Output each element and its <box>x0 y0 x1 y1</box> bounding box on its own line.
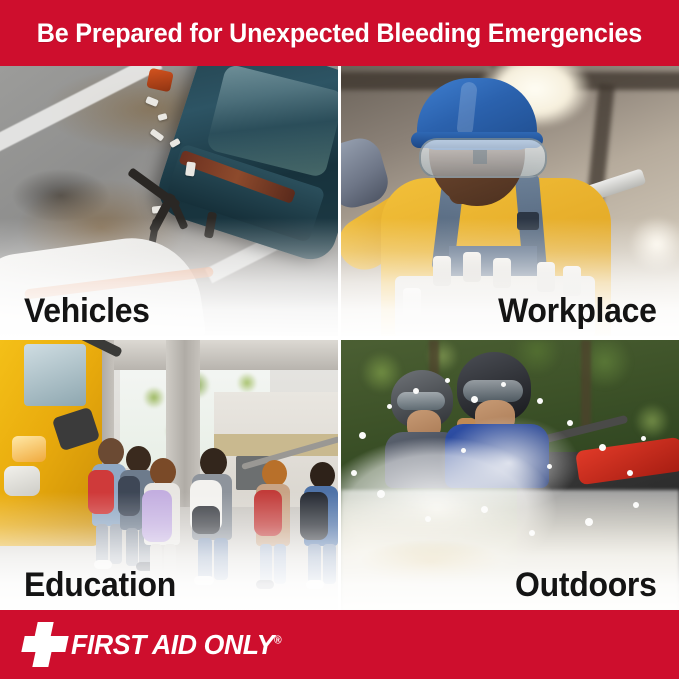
muddy-water <box>361 540 501 584</box>
grid-cell-education[interactable]: Education <box>0 340 338 610</box>
header-banner: Be Prepared for Unexpected Bleeding Emer… <box>0 0 679 66</box>
grid-cell-vehicles[interactable]: Vehicles <box>0 66 338 336</box>
footer-banner: FIRST AID ONLY® <box>0 610 679 679</box>
student <box>252 460 296 588</box>
machine-post <box>463 252 481 282</box>
overhead-light <box>629 216 679 272</box>
bus-signal-light <box>12 436 46 462</box>
brand-name-text: FIRST AID ONLY <box>71 629 274 660</box>
goggles-bridge <box>473 150 487 164</box>
poster: Be Prepared for Unexpected Bleeding Emer… <box>0 0 679 679</box>
caption-outdoors: Outdoors <box>515 566 657 604</box>
bus-headlight <box>4 466 40 496</box>
caption-vehicles: Vehicles <box>24 292 150 330</box>
registered-trademark-icon: ® <box>274 634 281 646</box>
grid-cell-outdoors[interactable]: Outdoors <box>341 340 679 610</box>
machine-post <box>433 256 451 286</box>
brand-logo[interactable]: FIRST AID ONLY® <box>22 622 292 668</box>
first-aid-cross-icon <box>22 622 66 668</box>
grid-cell-workplace[interactable]: Workplace <box>341 66 679 336</box>
caption-education: Education <box>24 566 176 604</box>
debris-piece <box>185 161 196 176</box>
student <box>300 462 338 588</box>
machine-post <box>537 262 555 292</box>
student <box>188 448 240 586</box>
category-grid: Vehicles <box>0 66 679 610</box>
machine-post <box>493 258 511 288</box>
bus-windshield <box>24 344 86 406</box>
caption-workplace: Workplace <box>498 292 657 330</box>
overall-buckle <box>517 212 539 230</box>
machine-post <box>403 288 421 318</box>
brand-name: FIRST AID ONLY® <box>71 629 281 661</box>
page-title: Be Prepared for Unexpected Bleeding Emer… <box>37 18 642 49</box>
